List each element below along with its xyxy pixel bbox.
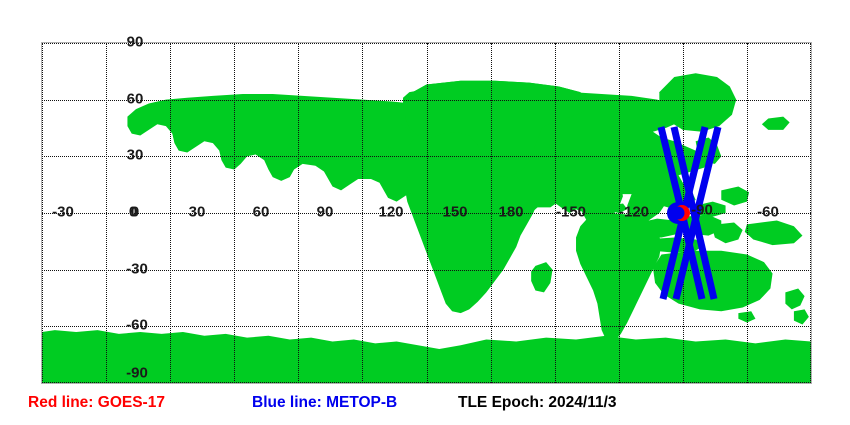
satellite-ground-track-map: 90 60 30 0 -30 -60 -90 -30 0 30 60 90 12… (0, 0, 850, 425)
lon-tick-180: 180 (498, 205, 523, 220)
lon-tick-m120: -120 (619, 205, 649, 220)
lon-tick-150: 150 (442, 205, 467, 220)
lat-tick-m30: -30 (126, 261, 148, 276)
lon-tick-90: 90 (317, 205, 334, 220)
lat-tick-30: 30 (127, 148, 144, 163)
legend-tle-epoch: TLE Epoch: 2024/11/3 (458, 392, 617, 414)
legend-blue-line: Blue line: METOP-B (252, 392, 397, 414)
lon-tick-60: 60 (253, 205, 270, 220)
lon-tick-120: 120 (378, 205, 403, 220)
lat-tick-60: 60 (127, 91, 144, 106)
goes-17-marker-inner (672, 207, 685, 220)
legend: Red line: GOES-17 Blue line: METOP-B TLE… (0, 392, 850, 425)
lat-tick-90: 90 (127, 35, 144, 50)
lon-tick-0: 0 (129, 205, 137, 220)
lon-tick-m90: -90 (691, 203, 713, 218)
lat-tick-m60: -60 (126, 318, 148, 333)
lon-tick-m30: -30 (52, 205, 74, 220)
lon-tick-m60: -60 (757, 205, 779, 220)
legend-red-line: Red line: GOES-17 (28, 392, 165, 414)
lon-tick-30: 30 (189, 205, 206, 220)
lon-tick-m150: -150 (556, 205, 586, 220)
lat-tick-m90: -90 (126, 366, 148, 381)
